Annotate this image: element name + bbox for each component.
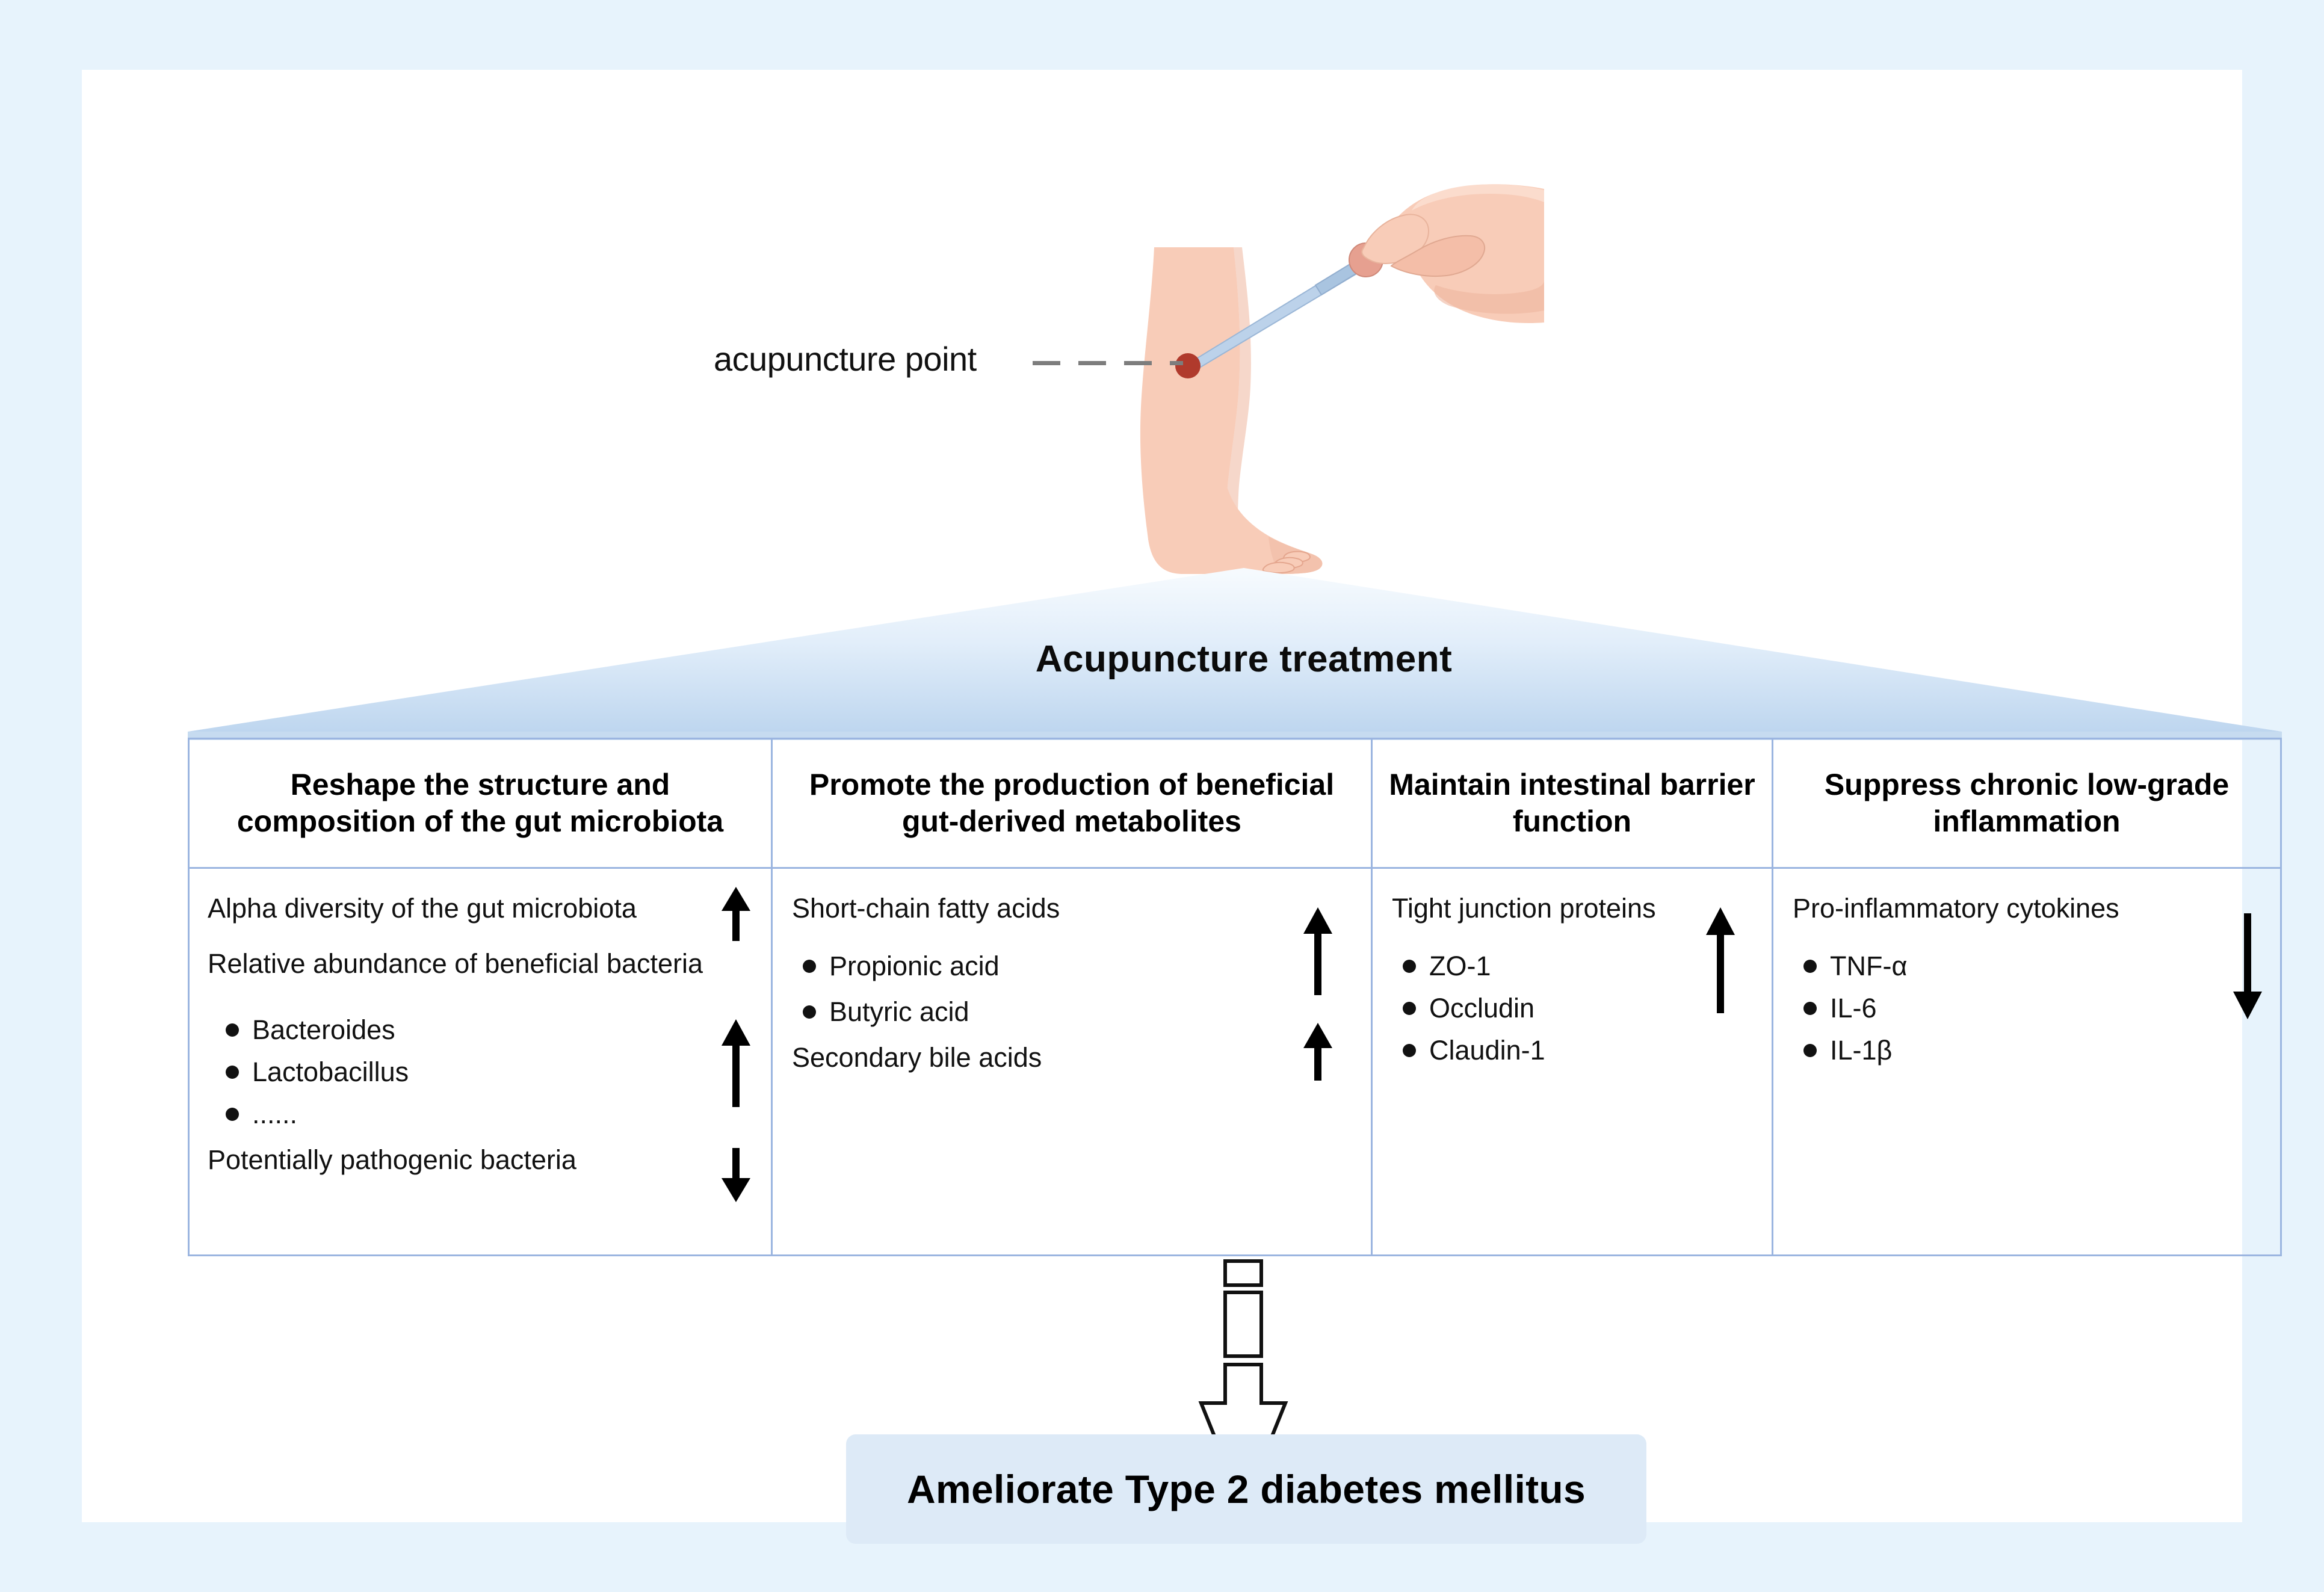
bullet-dot-icon bbox=[1803, 1044, 1817, 1057]
outcome-box: Ameliorate Type 2 diabetes mellitus bbox=[846, 1434, 1646, 1544]
list-item-label: Propionic acid bbox=[829, 951, 1000, 982]
table-header-suppress-inflammation: Suppress chronic low-grade inflammation bbox=[1773, 739, 2280, 867]
mechanism-table: Reshape the structure and composition of… bbox=[188, 738, 2282, 1256]
hand-holding-needle-illustration bbox=[1362, 184, 1544, 323]
item-pathogenic-bacteria: Potentially pathogenic bacteria bbox=[208, 1144, 576, 1176]
bullet-dot-icon bbox=[803, 960, 816, 973]
list-item-label: Butyric acid bbox=[829, 996, 969, 1028]
list-item-bacteroides: Bacteroides bbox=[226, 1014, 395, 1046]
bullet-dot-icon bbox=[1803, 960, 1817, 973]
table-cell-barrier-function: Tight junction proteins ZO-1 Occludin Cl… bbox=[1373, 869, 1772, 1256]
lower-leg-illustration bbox=[1140, 247, 1323, 574]
table-header-reshape-microbiota: Reshape the structure and composition of… bbox=[190, 739, 771, 867]
item-tight-junction-proteins: Tight junction proteins bbox=[1392, 893, 1656, 924]
table-cell-promote-metabolites: Short-chain fatty acids Propionic acid B… bbox=[773, 869, 1371, 1256]
bullet-dot-icon bbox=[1403, 960, 1416, 973]
banner-title: Acupuncture treatment bbox=[82, 638, 2324, 680]
list-item-il-1-beta: IL-1β bbox=[1803, 1035, 1892, 1066]
table-header-promote-metabolites: Promote the production of beneficial gut… bbox=[773, 739, 1371, 867]
item-alpha-diversity: Alpha diversity of the gut microbiota bbox=[208, 893, 637, 924]
arrow-up-secondary-bile-acids bbox=[1301, 1022, 1335, 1082]
list-item-label: IL-6 bbox=[1830, 993, 1877, 1024]
list-item-label: TNF-α bbox=[1830, 951, 1907, 982]
item-short-chain-fatty-acids: Short-chain fatty acids bbox=[792, 893, 1060, 924]
list-item-label: Claudin-1 bbox=[1429, 1035, 1545, 1066]
list-item-butyric-acid: Butyric acid bbox=[803, 996, 969, 1028]
list-item-label: Bacteroides bbox=[252, 1014, 395, 1046]
list-item-occludin: Occludin bbox=[1403, 993, 1534, 1024]
page-background: acupuncture point Acupuncture treatment bbox=[0, 0, 2324, 1592]
bullet-dot-icon bbox=[226, 1066, 239, 1079]
list-item-zo-1: ZO-1 bbox=[1403, 951, 1491, 982]
list-item-label: IL-1β bbox=[1830, 1035, 1892, 1066]
item-pro-inflammatory-cytokines: Pro-inflammatory cytokines bbox=[1793, 893, 2119, 924]
table-cell-reshape-microbiota: Alpha diversity of the gut microbiota Re… bbox=[190, 869, 771, 1256]
arrow-down-pro-inflammatory-cytokines bbox=[2231, 912, 2264, 1020]
list-item-lactobacillus: Lactobacillus bbox=[226, 1057, 409, 1088]
bullet-dot-icon bbox=[1403, 1002, 1416, 1015]
acupuncture-point-leader-line bbox=[1033, 361, 1183, 365]
list-item-label: Occludin bbox=[1429, 993, 1534, 1024]
bullet-dot-icon bbox=[226, 1108, 239, 1121]
acupuncture-point-label: acupuncture point bbox=[714, 339, 977, 378]
list-item-il-6: IL-6 bbox=[1803, 993, 1877, 1024]
bullet-dot-icon bbox=[226, 1023, 239, 1037]
arrow-up-tight-junction-proteins bbox=[1704, 906, 1737, 1014]
item-secondary-bile-acids: Secondary bile acids bbox=[792, 1042, 1042, 1073]
bullet-dot-icon bbox=[1803, 1002, 1817, 1015]
table-header-barrier-function: Maintain intestinal barrier function bbox=[1373, 739, 1772, 867]
arrow-up-short-chain-fatty-acids bbox=[1301, 906, 1335, 996]
acupuncture-point-dot bbox=[1175, 353, 1201, 378]
list-item-ellipsis: ...... bbox=[226, 1099, 297, 1130]
list-item-propionic-acid: Propionic acid bbox=[803, 951, 1000, 982]
table-cell-suppress-inflammation: Pro-inflammatory cytokines TNF-α IL-6 IL… bbox=[1773, 869, 2280, 1256]
arrow-up-beneficial-bacteria bbox=[719, 1018, 753, 1108]
figure-panel: acupuncture point Acupuncture treatment bbox=[82, 70, 2242, 1522]
list-item-claudin-1: Claudin-1 bbox=[1403, 1035, 1545, 1066]
list-item-label: Lactobacillus bbox=[252, 1057, 409, 1088]
item-relative-abundance: Relative abundance of beneficial bacteri… bbox=[208, 948, 703, 980]
arrow-up-alpha-diversity bbox=[719, 886, 753, 942]
list-item-label: ZO-1 bbox=[1429, 951, 1491, 982]
list-item-label: ...... bbox=[252, 1099, 297, 1130]
bullet-dot-icon bbox=[1403, 1044, 1416, 1057]
bullet-dot-icon bbox=[803, 1005, 816, 1019]
list-item-tnf-alpha: TNF-α bbox=[1803, 951, 1907, 982]
outcome-label: Ameliorate Type 2 diabetes mellitus bbox=[907, 1466, 1586, 1512]
arrow-down-pathogenic-bacteria bbox=[719, 1147, 753, 1203]
